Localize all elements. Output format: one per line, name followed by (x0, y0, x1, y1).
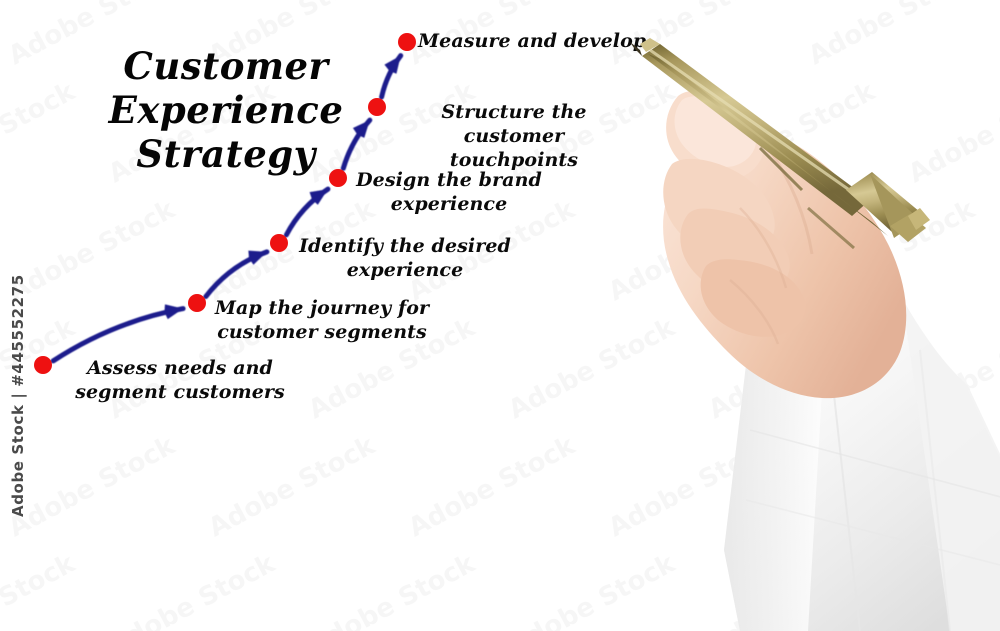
arrow-head (384, 56, 400, 74)
milestone-dot-5 (368, 98, 386, 116)
arrow-head (248, 251, 267, 265)
hand-holding-pen (620, 30, 1000, 631)
step-label-design-brand-experience: Design the brand experience (352, 168, 546, 216)
step-label-identify-desired-experience: Identify the desired experience (294, 234, 516, 282)
milestone-dot-1 (34, 356, 52, 374)
milestone-dot-2 (188, 294, 206, 312)
page-title: Customer Experience Strategy (96, 44, 356, 176)
step-label-structure-touchpoints: Structure the customer touchpoints (390, 100, 638, 172)
adobe-stock-id-watermark: Adobe Stock | #445552275 (9, 249, 27, 517)
milestone-dot-6 (398, 33, 416, 51)
stock-photo-canvas: Adobe StockAdobe StockAdobe StockAdobe S… (0, 0, 1000, 631)
arrow-head (164, 304, 183, 319)
step-label-assess-needs: Assess needs and segment customers (66, 356, 294, 404)
step-label-map-journey: Map the journey for customer segments (214, 296, 430, 344)
arrow-segment (53, 309, 183, 361)
milestone-dot-3 (270, 234, 288, 252)
